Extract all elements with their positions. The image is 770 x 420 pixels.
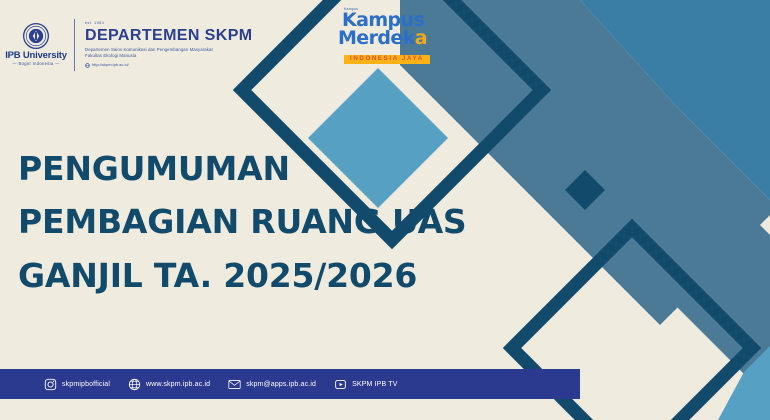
footer-item-tv[interactable]: SKPM IPB TV [334,378,397,391]
announcement-poster: IPB University — Bogor Indonesia — est. … [0,0,770,420]
department-website-label: http://skpm.ipb.ac.id/ [92,63,129,67]
department-subtitle-group: Departemen Sains Komunikasi dan Pengemba… [85,47,253,59]
kampus-merdeka-word2-main: Merdek [338,27,415,49]
ipb-university-logo: IPB University — Bogor Indonesia — [8,19,64,71]
kampus-merdeka-word2-accent: a [415,27,427,49]
brand-divider [74,19,75,71]
department-website[interactable]: http://skpm.ipb.ac.id/ [85,63,253,68]
kampus-merdeka-logo: Kampus Kampus Merdeka INDONESIA JAYA [338,8,448,70]
department-title: DEPARTEMEN SKPM [85,28,253,44]
instagram-icon [44,378,57,391]
footer-label-tv: SKPM IPB TV [352,381,397,388]
bright-blue-wedge [580,0,770,200]
globe-icon [128,378,141,391]
footer-item-instagram[interactable]: skpmipbofficial [44,378,110,391]
navy-chevron-small [565,170,605,210]
footer-item-website[interactable]: www.skpm.ipb.ac.id [128,378,210,391]
page-title: PENGUMUMAN PEMBAGIAN RUANG UAS GANJIL TA… [18,142,466,302]
steel-blue-bottom-diamond [610,205,770,400]
footer-item-email[interactable]: skpm@apps.ipb.ac.id [228,378,316,391]
ipb-seal-icon [23,23,49,49]
light-blue-corner-diamond [718,346,770,420]
play-icon [334,378,347,391]
kampus-merdeka-ribbon: INDONESIA JAYA [344,55,430,64]
ipb-university-name: IPB University [5,51,67,61]
globe-icon [85,63,90,68]
kampus-merdeka-word2: Merdeka [338,30,448,47]
headline-line-2: PEMBAGIAN RUANG UAS [18,195,466,248]
brand-header: IPB University — Bogor Indonesia — est. … [0,0,330,90]
department-block: est. 1964 DEPARTEMEN SKPM Departemen Sai… [85,22,253,67]
footer-label-email: skpm@apps.ipb.ac.id [246,381,316,388]
ipb-university-tagline: — Bogor Indonesia — [13,62,60,66]
envelope-icon [228,378,241,391]
footer-label-website: www.skpm.ipb.ac.id [146,381,210,388]
footer-label-instagram: skpmipbofficial [62,381,110,388]
headline-line-1: PENGUMUMAN [18,142,466,195]
footer-contact-bar: skpmipbofficial www.skpm.ipb.ac.id skpm@… [0,369,580,399]
headline-line-3: GANJIL TA. 2025/2026 [18,249,466,302]
department-subtitle-line2: Fakultas Ekologi Manusia [85,53,253,59]
department-eyebrow: est. 1964 [85,22,253,26]
